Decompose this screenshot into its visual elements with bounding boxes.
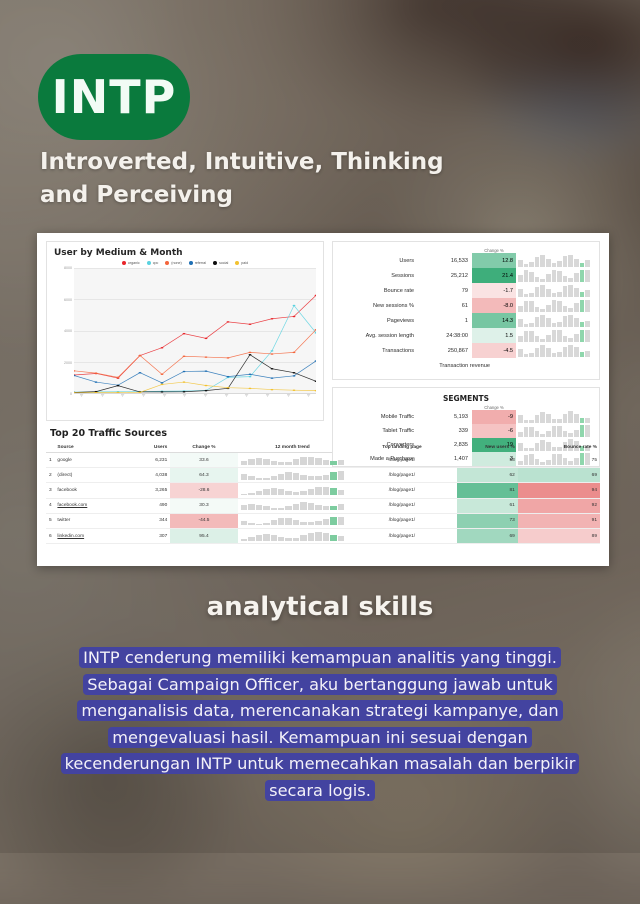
segment-row: Made a Purchase1,4073: [340, 452, 592, 466]
sparkline-bar: [552, 419, 557, 423]
sparkline-bar: [524, 448, 529, 452]
table-row[interactable]: 4facebook.com49030.3/blog/page1/6192: [46, 498, 600, 513]
row-change: -44.5: [170, 513, 237, 528]
kpi-value: 250,867: [420, 343, 472, 358]
chart-point: [183, 381, 186, 383]
kpi-change: -4.5: [472, 343, 516, 358]
col-rank: [46, 443, 54, 453]
row-new-users: 69: [457, 528, 518, 543]
source-link[interactable]: google: [57, 458, 71, 463]
x-axis-tick: 2017-07: [203, 394, 213, 397]
chart-point: [139, 355, 142, 357]
sparkline-bar: [524, 354, 529, 357]
kpi-value: 24:38:00: [420, 328, 472, 343]
sparkline-bar: [557, 426, 562, 437]
sparkline-bar: [580, 425, 585, 437]
trend-bar: [330, 506, 336, 510]
sparkline-bar: [563, 316, 568, 327]
kpi-value: 79: [420, 283, 472, 298]
sparkline-bar: [518, 289, 523, 297]
x-axis-tick: 2017-04: [141, 394, 151, 397]
chart-point: [161, 391, 164, 393]
trend-bar: [285, 506, 291, 510]
sparkline-bar: [574, 318, 579, 327]
sparkline-bar: [585, 260, 590, 267]
sparkline-bar: [563, 306, 568, 312]
legend-item: cpc: [147, 261, 159, 265]
row-bounce-rate: 92: [518, 498, 600, 513]
chart-point: [315, 390, 316, 392]
trend-bar: [330, 488, 336, 495]
sparkline-bar: [557, 419, 562, 423]
chart-point: [293, 389, 296, 391]
trend-bar: [241, 494, 247, 495]
source-link[interactable]: facebook: [57, 488, 76, 493]
segments-rows: Mobile Traffic5,193-9Tablet Traffic339-6…: [340, 410, 592, 466]
sparkline-bar: [529, 272, 534, 282]
kpi-row: Sessions25,21221.4: [340, 268, 592, 283]
sparkline-bar: [580, 330, 585, 342]
legend-label: paid: [241, 261, 248, 265]
sparkline-bar: [529, 427, 534, 437]
chart-point: [161, 382, 164, 384]
chart-point: [74, 370, 75, 372]
legend-swatch-icon: [189, 261, 193, 265]
sparkline-bar: [529, 353, 534, 357]
row-users: 490: [124, 498, 170, 513]
chart-point: [271, 350, 274, 352]
trend-bar: [263, 478, 269, 480]
kpi-value: 25,212: [420, 268, 472, 283]
sparkline-bar: [524, 331, 529, 342]
x-axis-tick: 2017-09: [244, 394, 254, 397]
legend-swatch-icon: [147, 261, 151, 265]
kpi-row: Transactions250,867-4.5: [340, 343, 592, 358]
trend-bar: [300, 491, 306, 495]
trend-bar: [315, 532, 321, 540]
x-axis-tick: 2017-02: [100, 394, 110, 397]
trend-bar: [241, 521, 247, 525]
chart-point: [205, 385, 208, 387]
sparkline-bar: [585, 321, 590, 327]
sparkline-bar: [552, 447, 557, 451]
source-link[interactable]: (direct): [57, 473, 72, 478]
row-users: 4,038: [124, 468, 170, 483]
column-header[interactable]: 12 month trend: [238, 443, 348, 453]
segments-panel: SEGMENTS Change % Mobile Traffic5,193-9T…: [332, 387, 600, 467]
row-new-users: 62: [457, 468, 518, 483]
trend-bar: [263, 459, 269, 464]
trend-bar: [256, 491, 262, 495]
row-users: 3,265: [124, 483, 170, 498]
sparkline-bar: [535, 307, 540, 312]
row-new-users: 61: [457, 498, 518, 513]
row-bounce-rate: 91: [518, 513, 600, 528]
legend-label: (none): [171, 261, 181, 265]
sparkline-bar: [563, 347, 568, 357]
chart-point: [139, 372, 142, 374]
sparkline-bar: [574, 347, 579, 357]
trend-bar: [293, 520, 299, 526]
sparkline-bar: [552, 300, 557, 312]
kpi-rows: Users16,53312.8Sessions25,21221.4Bounce …: [340, 253, 592, 373]
sparkline-bar: [535, 415, 540, 423]
sparkline: [516, 298, 592, 313]
y-axis-tick: 4000: [64, 329, 72, 333]
trend-bar: [263, 534, 269, 541]
segment-label: Tablet Traffic: [340, 424, 420, 438]
sparkline-bar: [557, 301, 562, 312]
column-header[interactable]: Change %: [170, 443, 237, 453]
sparkline: [516, 452, 592, 466]
chart-point: [315, 295, 316, 297]
sparkline-bar: [580, 453, 585, 465]
sparkline-bar: [568, 461, 573, 465]
sparkline-bar: [557, 330, 562, 342]
row-source[interactable]: (direct): [54, 468, 124, 483]
row-source[interactable]: google: [54, 453, 124, 468]
sparkline-bar: [518, 432, 523, 437]
sparkline: [516, 424, 592, 438]
sparkline-bar: [574, 273, 579, 282]
chart-point: [271, 353, 274, 355]
chart-point: [293, 372, 296, 374]
trend-bar: [300, 457, 306, 464]
trend-bars: [241, 532, 345, 541]
x-axis-tick: 2017-12: [306, 394, 316, 397]
y-axis-tick: 0: [70, 392, 72, 396]
column-header[interactable]: Users: [124, 443, 170, 453]
x-axis-tick: 2017-10: [265, 394, 275, 397]
chart-x-axis: 2017-012017-022017-032017-042017-052017-…: [74, 394, 316, 411]
trend-bar: [271, 508, 277, 510]
chart-point: [271, 377, 274, 379]
row-rank: 1: [46, 453, 54, 468]
trend-bar: [271, 535, 277, 541]
x-axis-tick: 2017-05: [162, 394, 172, 397]
legend-swatch-icon: [165, 261, 169, 265]
kpi-value: [496, 358, 548, 373]
trend-bar: [248, 523, 254, 525]
row-landing-page[interactable]: /blog/page1/: [347, 528, 457, 543]
row-landing-page[interactable]: /blog/page1/: [347, 483, 457, 498]
sparkline-bar: [546, 335, 551, 342]
skills-caption: INTP cenderung memiliki kemampuan analit…: [57, 645, 583, 804]
row-bounce-rate: 69: [518, 468, 600, 483]
trend-bar: [338, 471, 344, 480]
trend-bar: [308, 522, 314, 525]
legend-label: social: [219, 261, 228, 265]
trend-bar: [263, 523, 269, 526]
chart-line-cpc: [74, 306, 316, 393]
row-source[interactable]: linkedin.com: [54, 528, 124, 543]
sparkline-bar: [568, 315, 573, 327]
sparkline-bar: [568, 308, 573, 312]
sparkline-bar: [535, 257, 540, 267]
trend-bar: [263, 506, 269, 510]
sparkline-bar: [568, 278, 573, 282]
trend-bar: [263, 489, 269, 495]
sparkline-bar: [546, 431, 551, 437]
chart-point: [161, 384, 164, 386]
trend-bars: [241, 456, 345, 465]
chart-point: [205, 370, 208, 372]
legend-item: paid: [235, 261, 248, 265]
sparkline-bar: [585, 453, 590, 465]
row-users: 307: [124, 528, 170, 543]
sparkline-bar: [563, 276, 568, 282]
chart-canvas: [74, 268, 316, 394]
sparkline-bar: [529, 331, 534, 342]
sparkline-bar: [557, 322, 562, 327]
sparkline-bar: [552, 270, 557, 282]
sparkline-bar: [540, 434, 545, 437]
legend-item: (none): [165, 261, 181, 265]
row-rank: 6: [46, 528, 54, 543]
trend-bar: [338, 460, 344, 465]
sparkline-bar: [535, 431, 540, 437]
trend-bar: [271, 520, 277, 525]
x-axis-tick: 2017-06: [182, 394, 192, 397]
chart-point: [95, 381, 98, 383]
sparkline-bar: [540, 315, 545, 327]
row-change: 30.3: [170, 498, 237, 513]
chart-point: [183, 356, 186, 358]
table-row[interactable]: 6linkedin.com30795.4/blog/page1/6989: [46, 528, 600, 543]
sparkline-bar: [568, 255, 573, 267]
row-landing-page[interactable]: /blog/page1/: [347, 468, 457, 483]
trend-bar: [278, 537, 284, 541]
y-axis-tick: 2000: [64, 361, 72, 365]
segment-value: 339: [420, 424, 472, 438]
sparkline-bar: [568, 345, 573, 357]
trend-bar: [293, 492, 299, 495]
trend-bar: [308, 457, 314, 465]
sparkline-bar: [563, 286, 568, 297]
sparkline-bar: [546, 259, 551, 267]
row-rank: 2: [46, 468, 54, 483]
chart-point: [183, 391, 186, 393]
x-axis-tick: 2017-08: [224, 394, 234, 397]
trend-bar: [248, 504, 254, 510]
sparkline-bar: [557, 352, 562, 357]
segment-row: Tablet Traffic339-6: [340, 424, 592, 438]
trend-bar: [241, 505, 247, 510]
trend-bars: [241, 501, 345, 510]
sparkline-bar: [535, 443, 540, 451]
sparkline-bar: [518, 336, 523, 342]
kpi-label: Avg. session length: [340, 328, 420, 343]
chart-point: [117, 377, 120, 379]
sparkline-bar: [563, 336, 568, 342]
sparkline: [516, 313, 592, 328]
trend-bar: [323, 475, 329, 480]
sparkline-bar: [557, 454, 562, 465]
segment-row: Converters2,83519: [340, 438, 592, 452]
legend-label: cpc: [153, 261, 159, 265]
kpi-change: 21.4: [472, 268, 516, 283]
sparkline-bar: [546, 460, 551, 466]
sparkline-bar: [524, 420, 529, 423]
sparkline-bar: [563, 431, 568, 437]
sparkline-bar: [540, 279, 545, 282]
row-trend: [238, 513, 348, 528]
sparkline-bar: [585, 425, 590, 437]
row-bounce-rate: 94: [518, 483, 600, 498]
chart-point: [249, 324, 252, 326]
trend-bar: [256, 478, 262, 480]
table-row[interactable]: 3facebook3,265-28.6/blog/page1/8194: [46, 483, 600, 498]
source-link[interactable]: linkedin.com: [57, 534, 84, 539]
trend-bar: [248, 493, 254, 495]
trend-bar: [323, 519, 329, 526]
chart-legend: organiccpc(none)referralsocialpaid: [54, 261, 316, 265]
trend-bar: [285, 472, 291, 479]
kpi-change: [548, 358, 592, 373]
row-change: 33.6: [170, 453, 237, 468]
sparkline-bar: [585, 330, 590, 342]
kpi-panel: Change % Users16,53312.8Sessions25,21221…: [332, 241, 600, 380]
trend-bars: [241, 471, 345, 480]
segment-label: Mobile Traffic: [340, 410, 420, 424]
legend-item: organic: [122, 261, 140, 265]
sparkline-bar: [540, 309, 545, 312]
sparkline-bar: [546, 305, 551, 312]
sparkline-bar: [518, 349, 523, 357]
kpi-value: 61: [420, 298, 472, 313]
sparkline-bar: [540, 412, 545, 423]
trend-bar: [330, 517, 336, 526]
row-source[interactable]: facebook.com: [54, 498, 124, 513]
source-link[interactable]: twitter: [57, 518, 70, 523]
chart-point: [315, 332, 316, 334]
trend-bar: [338, 490, 344, 495]
kpi-change: 12.8: [472, 253, 516, 268]
chart-point: [227, 376, 230, 378]
chart-point: [293, 352, 296, 354]
trend-bar: [271, 461, 277, 464]
sparkline-bar: [540, 462, 545, 465]
trend-bar: [315, 487, 321, 495]
sparkline-bar: [585, 290, 590, 297]
sparkline-bar: [529, 293, 534, 297]
chart-plot-area: 02000400060008000: [54, 268, 316, 394]
trend-bar: [285, 491, 291, 495]
chart-point: [161, 374, 164, 376]
sparkline-bar: [585, 270, 590, 282]
sparkline: [516, 283, 592, 298]
sparkline: [516, 268, 592, 283]
intp-subtitle: Introverted, Intuitive, Thinking and Per…: [40, 146, 460, 211]
sparkline-bar: [535, 287, 540, 297]
chart-point: [95, 372, 98, 374]
sparkline-bar: [574, 288, 579, 297]
row-source[interactable]: facebook: [54, 483, 124, 498]
sparkline-bar: [535, 336, 540, 342]
sparkline-bar: [568, 338, 573, 342]
table-row[interactable]: 2(direct)4,03864.3/blog/page1/6269: [46, 468, 600, 483]
chart-point: [271, 389, 274, 391]
row-users: 6,231: [124, 453, 170, 468]
sparkline-bar: [585, 418, 590, 423]
legend-label: referral: [195, 261, 206, 265]
source-link[interactable]: facebook.com: [57, 503, 87, 508]
trend-bar: [248, 537, 254, 540]
trend-bar: [241, 474, 247, 479]
x-axis-tick: 2017-11: [286, 394, 296, 397]
row-landing-page[interactable]: /blog/page1/: [347, 513, 457, 528]
sparkline-bar: [552, 353, 557, 357]
kpi-row: New sessions %61-8.0: [340, 298, 592, 313]
kpi-label: Bounce rate: [340, 283, 420, 298]
sparkline-bar: [529, 454, 534, 465]
row-bounce-rate: 89: [518, 528, 600, 543]
column-header[interactable]: Source: [54, 443, 124, 453]
sparkline-bar: [552, 454, 557, 465]
sparkline-bar: [563, 256, 568, 267]
trend-bar: [330, 535, 336, 541]
sparkline-bar: [546, 318, 551, 327]
table-row[interactable]: 5twitter344-44.5/blog/page1/7391: [46, 513, 600, 528]
sparkline-bar: [552, 426, 557, 437]
chart-title: User by Medium & Month: [54, 248, 316, 258]
sparkline-bar: [563, 414, 568, 423]
trend-bar: [293, 459, 299, 464]
chart-y-axis: 02000400060008000: [54, 268, 74, 394]
sparkline-bar: [557, 271, 562, 282]
trend-bar: [338, 536, 344, 540]
slide-stage: INTP Introverted, Intuitive, Thinking an…: [0, 0, 640, 853]
intp-badge: INTP: [38, 54, 190, 140]
kpi-row: Bounce rate79-1.7: [340, 283, 592, 298]
chart-point: [161, 347, 164, 349]
sparkline-bar: [546, 348, 551, 357]
x-axis-tick: 2017-01: [79, 394, 89, 397]
sparkline-bar: [524, 427, 529, 437]
chart-line-referral: [74, 361, 316, 385]
row-rank: 3: [46, 483, 54, 498]
chart-point: [227, 321, 230, 323]
chart-point: [227, 387, 230, 389]
sparkline-bar: [585, 351, 590, 357]
chart-point: [249, 352, 252, 354]
sparkline-bar: [518, 443, 523, 451]
trend-bar: [323, 487, 329, 495]
row-landing-page[interactable]: /blog/page1/: [347, 498, 457, 513]
row-source[interactable]: twitter: [54, 513, 124, 528]
trend-bar: [256, 505, 262, 511]
sparkline-bar: [529, 262, 534, 267]
chart-point: [205, 338, 208, 340]
row-new-users: 81: [457, 483, 518, 498]
trend-bar: [293, 473, 299, 480]
sparkline: [516, 410, 592, 424]
trend-bar: [278, 518, 284, 525]
legend-item: social: [213, 261, 228, 265]
chart-line-social: [74, 355, 316, 393]
sparkline-bar: [580, 352, 585, 357]
sparkline-bar: [574, 414, 579, 423]
trend-bar: [308, 489, 314, 495]
kpi-value: 16,533: [420, 253, 472, 268]
sparkline-bar: [552, 293, 557, 297]
sparkline-bar: [524, 301, 529, 312]
row-rank: 5: [46, 513, 54, 528]
trend-bar: [256, 535, 262, 541]
sparkline-bar: [540, 345, 545, 357]
row-rank: 4: [46, 498, 54, 513]
sparkline-bar: [540, 339, 545, 342]
